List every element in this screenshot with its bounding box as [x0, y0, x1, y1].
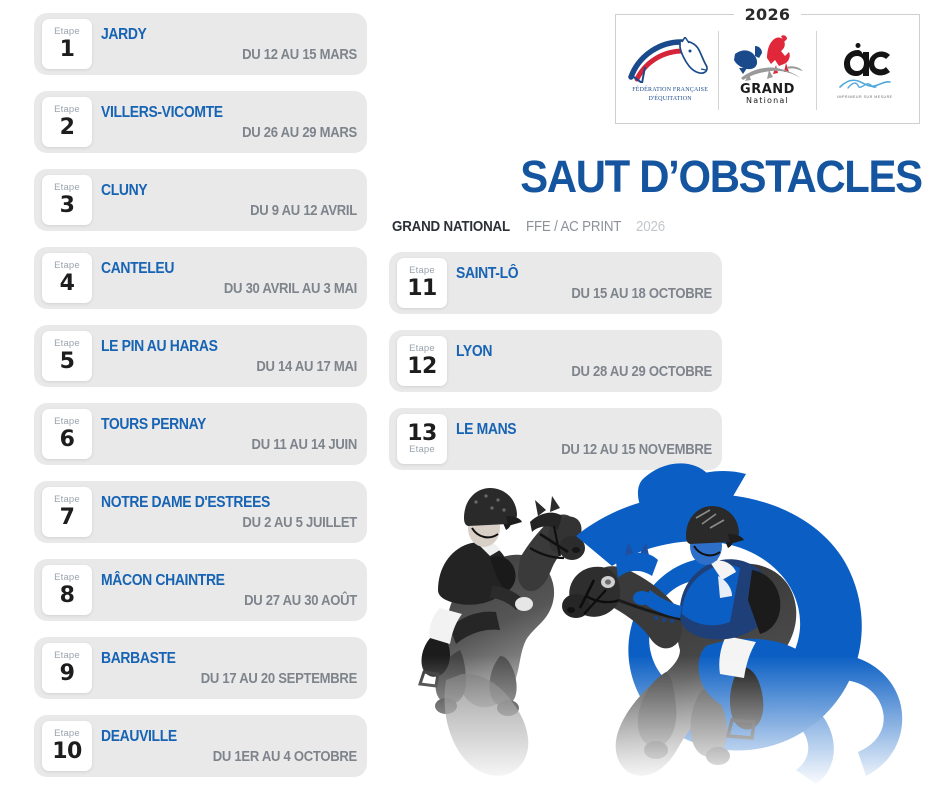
etape-dates: DU 11 AU 14 JUIN [127, 438, 357, 453]
etape-city: JARDY [101, 27, 331, 43]
etape-city: CLUNY [101, 183, 331, 199]
etape-dates: DU 27 AU 30 AOÛT [127, 594, 357, 609]
etape-city: LYON [456, 344, 686, 360]
etape-city: LE MANS [456, 422, 686, 438]
etape-city: BARBASTE [101, 651, 331, 667]
etape-card[interactable]: Etape4CANTELEUDU 30 AVRIL AU 3 MAI [34, 247, 367, 309]
etape-number: 13 [407, 422, 437, 445]
subtitle-light: 2026 [636, 219, 665, 235]
rider-blue-group [562, 463, 902, 784]
ac-print-mark-icon [828, 43, 902, 93]
etape-card[interactable]: Etape11SAINT-LÔDU 15 AU 18 OCTOBRE [389, 252, 722, 314]
etape-number: 1 [60, 38, 75, 61]
etape-card-body: SAINT-LÔDU 15 AU 18 OCTOBRE [456, 258, 712, 308]
etape-number: 3 [60, 194, 75, 217]
etape-card-body: LE PIN AU HARASDU 14 AU 17 MAI [101, 331, 357, 381]
subtitle: GRAND NATIONAL FFE / AC PRINT 2026 [392, 219, 667, 235]
etape-card[interactable]: Etape10DEAUVILLEDU 1ER AU 4 OCTOBRE [34, 715, 367, 777]
etape-number-box: Etape1 [42, 19, 92, 69]
ffe-logo: FÉDÉRATION FRANÇAISE D'ÉQUITATION [622, 24, 718, 117]
subtitle-strong: GRAND NATIONAL [392, 219, 510, 235]
etape-city: TOURS PERNAY [101, 417, 331, 433]
grand-national-logo: GRAND National [719, 24, 815, 117]
etape-card[interactable]: Etape2VILLERS-VICOMTEDU 26 AU 29 MARS [34, 91, 367, 153]
ac-print-tagline: IMPRIMEUR SUR MESURE [837, 95, 893, 99]
etape-dates: DU 9 AU 12 AVRIL [127, 204, 357, 219]
partner-logo-box: 2026 FÉDÉRATION FRANÇAISE D'ÉQUITATION [615, 14, 920, 124]
page-title: SAUT D’OBSTACLES [520, 154, 922, 199]
rider-grayscale-group [420, 488, 585, 776]
etape-city: MÂCON CHAINTRE [101, 573, 331, 589]
etape-number: 6 [60, 428, 75, 451]
etape-number: 4 [60, 272, 75, 295]
etape-card[interactable]: Etape9BARBASTEDU 17 AU 20 SEPTEMBRE [34, 637, 367, 699]
etape-card[interactable]: Etape1JARDYDU 12 AU 15 MARS [34, 13, 367, 75]
etape-city: SAINT-LÔ [456, 266, 686, 282]
etape-card[interactable]: Etape7NOTRE DAME D'ESTREESDU 2 AU 5 JUIL… [34, 481, 367, 543]
ac-print-logo: IMPRIMEUR SUR MESURE [817, 24, 913, 117]
etape-dates: DU 15 AU 18 OCTOBRE [482, 287, 712, 302]
etape-card-body: DEAUVILLEDU 1ER AU 4 OCTOBRE [101, 721, 357, 771]
ffe-line-2: D'ÉQUITATION [648, 96, 691, 102]
etape-number-box: Etape5 [42, 331, 92, 381]
etape-number-box: Etape10 [42, 721, 92, 771]
etape-number-box: Etape12 [397, 336, 447, 386]
etape-card-body: JARDYDU 12 AU 15 MARS [101, 19, 357, 69]
etape-dates: DU 17 AU 20 SEPTEMBRE [127, 672, 357, 687]
grand-national-word-grand: GRAND [740, 83, 795, 96]
etape-card-body: NOTRE DAME D'ESTREESDU 2 AU 5 JUILLET [101, 487, 357, 537]
etape-number: 7 [60, 506, 75, 529]
grand-national-horses-icon [729, 34, 805, 82]
etape-number-box: Etape3 [42, 175, 92, 225]
etape-label: Etape [409, 445, 435, 456]
etape-card[interactable]: Etape3CLUNYDU 9 AU 12 AVRIL [34, 169, 367, 231]
etape-city: LE PIN AU HARAS [101, 339, 331, 355]
etape-number: 9 [60, 662, 75, 685]
etape-number-box: Etape8 [42, 565, 92, 615]
etape-dates: DU 1ER AU 4 OCTOBRE [127, 750, 357, 765]
subtitle-mid: FFE / AC PRINT [526, 219, 621, 235]
etape-number-box: Etape6 [42, 409, 92, 459]
etape-city: NOTRE DAME D'ESTREES [101, 495, 331, 511]
etape-dates: DU 12 AU 15 MARS [127, 48, 357, 63]
ffe-logo-text: FÉDÉRATION FRANÇAISE D'ÉQUITATION [632, 86, 708, 103]
etape-card-body: BARBASTEDU 17 AU 20 SEPTEMBRE [101, 643, 357, 693]
ffe-line-1: FÉDÉRATION FRANÇAISE [632, 87, 708, 93]
etape-number-box: Etape9 [42, 643, 92, 693]
etape-number: 5 [60, 350, 75, 373]
etape-card[interactable]: Etape12LYONDU 28 AU 29 OCTOBRE [389, 330, 722, 392]
etape-card-body: CANTELEUDU 30 AVRIL AU 3 MAI [101, 253, 357, 303]
riders-illustration [380, 440, 940, 788]
etape-dates: DU 30 AVRIL AU 3 MAI [127, 282, 357, 297]
etape-dates: DU 26 AU 29 MARS [127, 126, 357, 141]
etape-number: 10 [52, 740, 82, 763]
etape-number: 12 [407, 355, 437, 378]
etape-card-body: VILLERS-VICOMTEDU 26 AU 29 MARS [101, 97, 357, 147]
rider-artwork [380, 440, 940, 788]
etape-number-box: Etape7 [42, 487, 92, 537]
etape-city: CANTELEU [101, 261, 331, 277]
etape-number: 11 [407, 277, 437, 300]
etape-card-body: LE MANSDU 12 AU 15 NOVEMBRE [456, 414, 712, 464]
etape-dates: DU 28 AU 29 OCTOBRE [482, 365, 712, 380]
etape-card-body: CLUNYDU 9 AU 12 AVRIL [101, 175, 357, 225]
etape-card[interactable]: Etape8MÂCON CHAINTREDU 27 AU 30 AOÛT [34, 559, 367, 621]
ffe-horse-icon [627, 37, 713, 83]
etape-city: DEAUVILLE [101, 729, 331, 745]
etape-card[interactable]: Etape6TOURS PERNAYDU 11 AU 14 JUIN [34, 403, 367, 465]
etape-card[interactable]: Etape13LE MANSDU 12 AU 15 NOVEMBRE [389, 408, 722, 470]
etape-card-body: MÂCON CHAINTREDU 27 AU 30 AOÛT [101, 565, 357, 615]
logo-row: FÉDÉRATION FRANÇAISE D'ÉQUITATION [616, 15, 919, 123]
etape-number-box: Etape2 [42, 97, 92, 147]
etape-number: 8 [60, 584, 75, 607]
etape-number-box: Etape4 [42, 253, 92, 303]
etape-city: VILLERS-VICOMTE [101, 105, 331, 121]
etape-dates: DU 14 AU 17 MAI [127, 360, 357, 375]
etape-card-body: TOURS PERNAYDU 11 AU 14 JUIN [101, 409, 357, 459]
etape-number: 2 [60, 116, 75, 139]
etape-card-body: LYONDU 28 AU 29 OCTOBRE [456, 336, 712, 386]
etape-dates: DU 12 AU 15 NOVEMBRE [482, 443, 712, 458]
grand-national-word-national: National [746, 96, 789, 107]
etape-number-box: Etape11 [397, 258, 447, 308]
etape-number-box: Etape13 [397, 414, 447, 464]
etape-card[interactable]: Etape5LE PIN AU HARASDU 14 AU 17 MAI [34, 325, 367, 387]
poster-root: Etape1JARDYDU 12 AU 15 MARSEtape2VILLERS… [0, 0, 940, 788]
etape-dates: DU 2 AU 5 JUILLET [127, 516, 357, 531]
